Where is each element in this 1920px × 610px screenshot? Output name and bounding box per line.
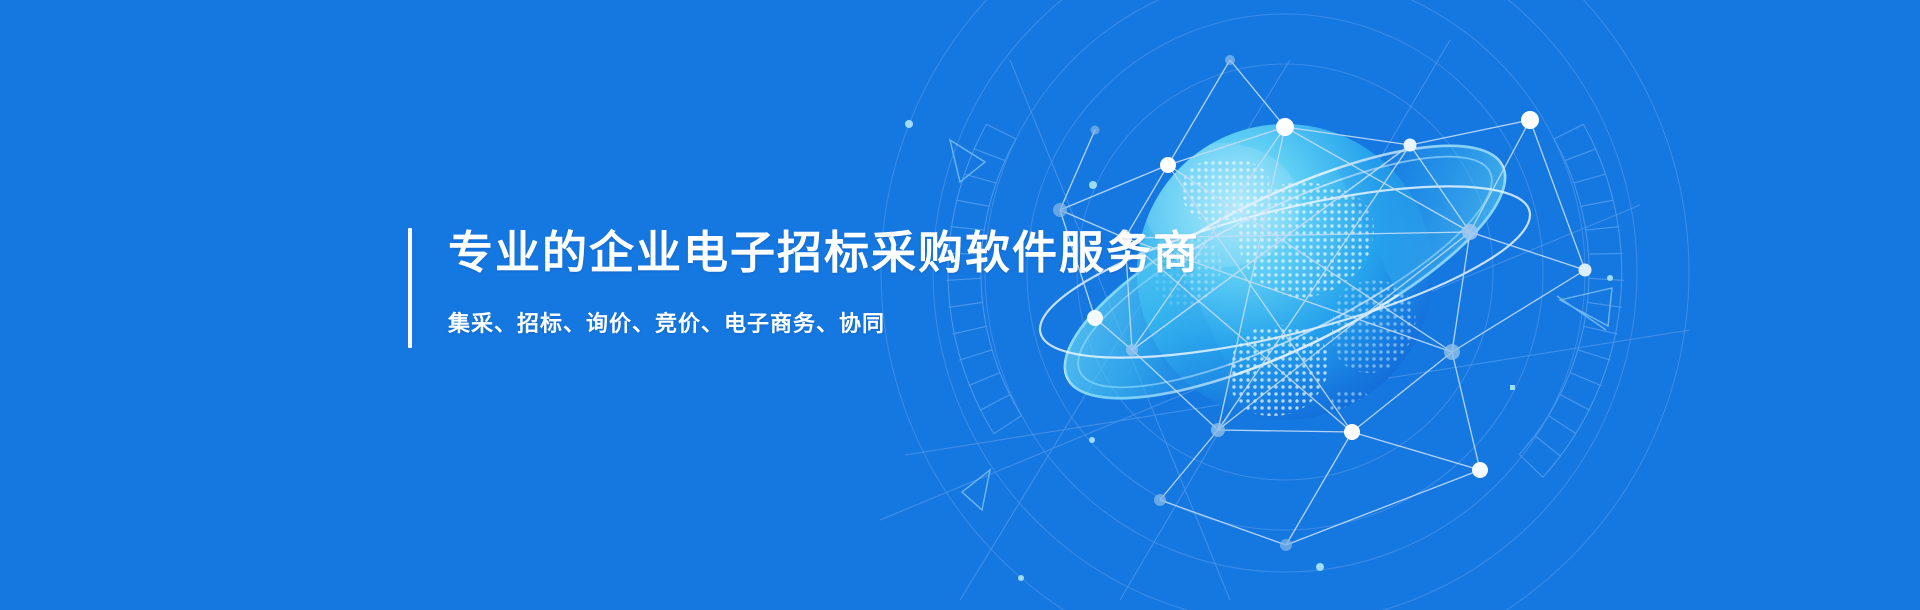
ladder-ticks-right <box>1519 124 1623 477</box>
hero-text-block: 专业的企业电子招标采购软件服务商 集采、招标、询价、竞价、电子商务、协同 <box>408 228 1200 348</box>
hero-text-column: 专业的企业电子招标采购软件服务商 集采、招标、询价、竞价、电子商务、协同 <box>412 228 1200 348</box>
hero-subline: 集采、招标、询价、竞价、电子商务、协同 <box>448 275 1200 335</box>
hero-banner: 专业的企业电子招标采购软件服务商 集采、招标、询价、竞价、电子商务、协同 <box>0 0 1920 610</box>
hero-headline: 专业的企业电子招标采购软件服务商 <box>448 228 1200 275</box>
scatter-dots <box>905 120 1613 581</box>
